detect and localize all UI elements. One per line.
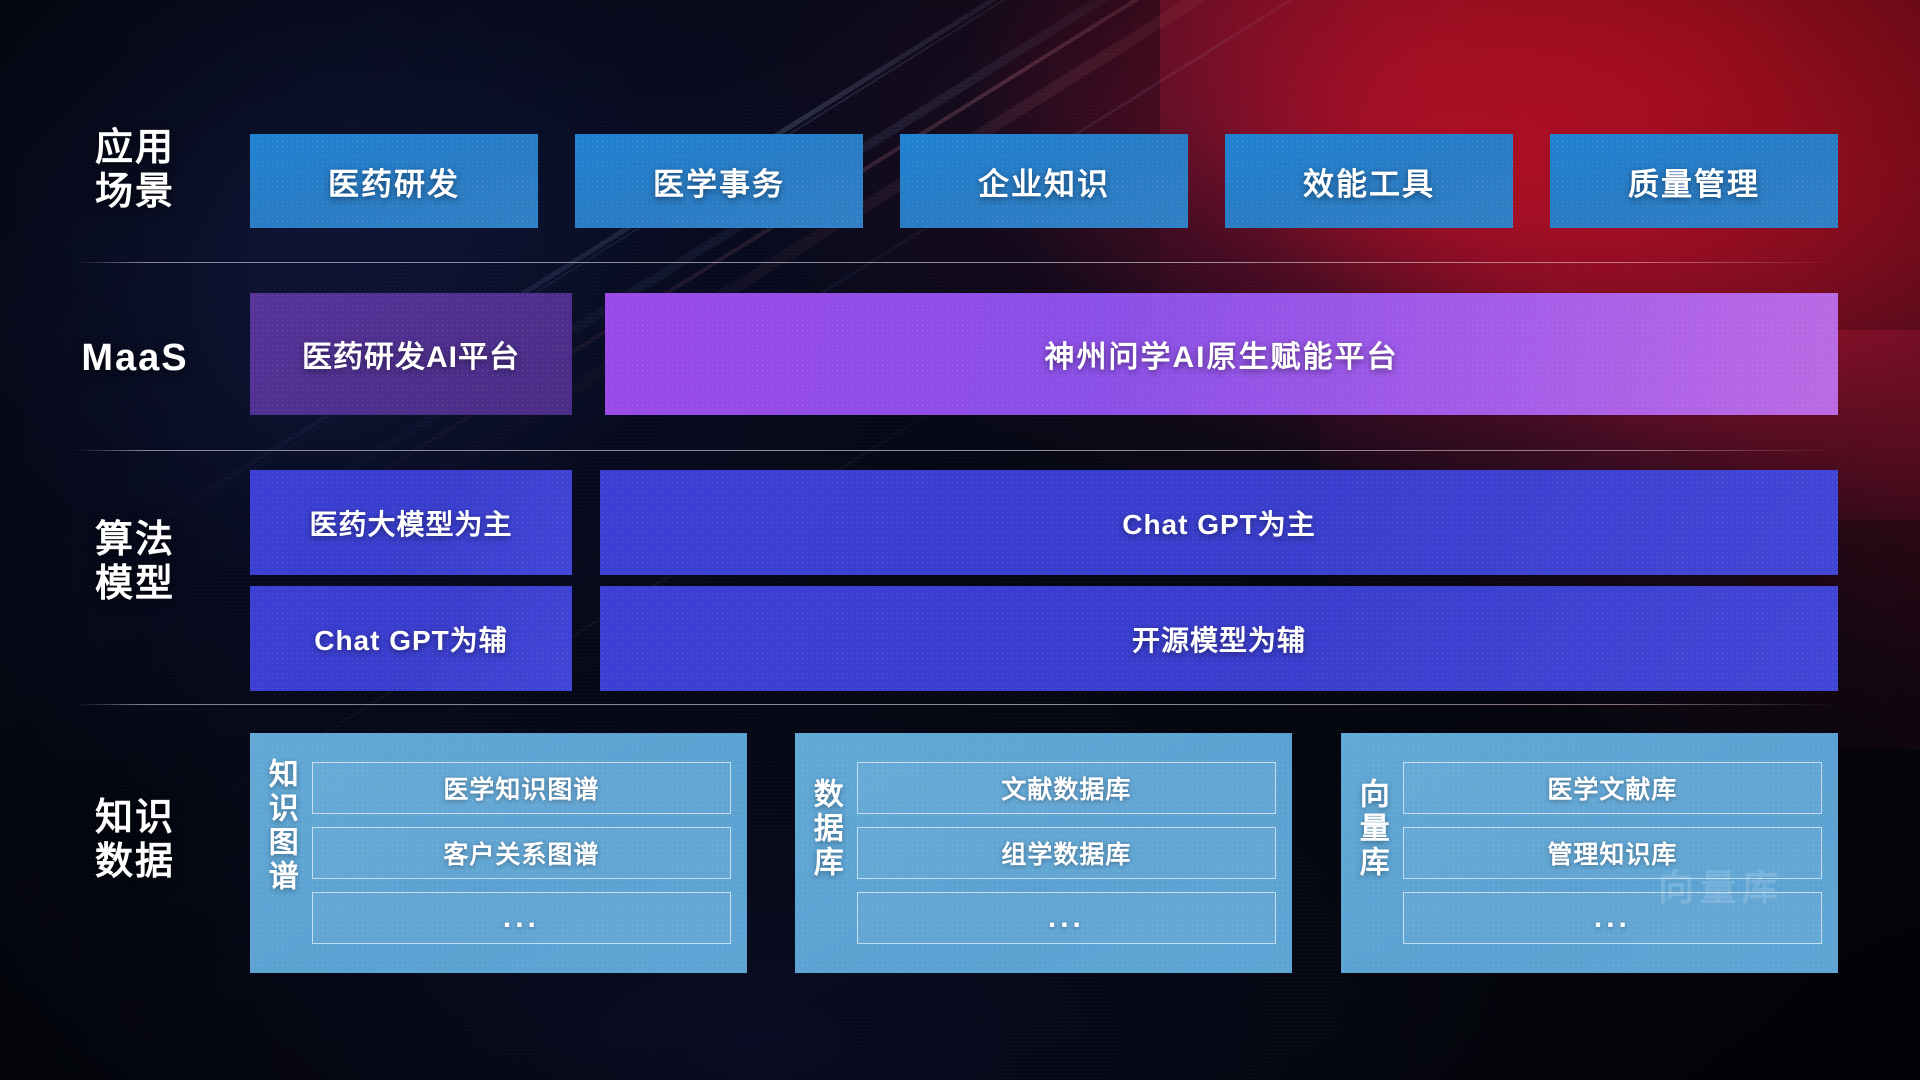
knowledge-group-title: 数据库 [809,778,841,928]
app-box-label: 企业知识 [978,159,1110,204]
row-label-algorithm: 算法 模型 [60,518,210,606]
knowledge-item[interactable]: 医学知识图谱 [312,762,731,814]
knowledge-item-label: 文献数据库 [1001,770,1131,806]
knowledge-item[interactable]: 医学文献库 [1403,762,1822,814]
app-box-label: 医药研发 [328,159,460,204]
algo-box-label: Chat GPT为辅 [314,619,508,659]
algo-box-medical-model-primary[interactable]: 医药大模型为主 [250,470,572,575]
knowledge-item-more[interactable]: ... [1403,892,1822,944]
maas-box-medical-ai-platform[interactable]: 医药研发AI平台 [250,293,572,415]
algo-box-label: 开源模型为辅 [1132,619,1306,659]
knowledge-group-title: 向量库 [1355,778,1387,928]
algo-box-chatgpt-primary[interactable]: Chat GPT为主 [600,470,1838,575]
knowledge-item-label: ... [1048,901,1085,935]
algo-box-chatgpt-secondary[interactable]: Chat GPT为辅 [250,586,572,691]
knowledge-group-database[interactable]: 数据库 文献数据库 组学数据库 ... [795,733,1292,973]
maas-box-shenzhou-platform[interactable]: 神州问学AI原生赋能平台 [605,293,1838,415]
row-label-application: 应用 场景 [60,126,210,214]
app-box-2[interactable]: 企业知识 [900,134,1188,228]
knowledge-item-label: ... [503,901,540,935]
knowledge-item-label: 管理知识库 [1547,835,1677,871]
divider-1 [75,262,1837,263]
knowledge-group-title: 知识图谱 [264,758,296,948]
knowledge-item-more[interactable]: ... [857,892,1276,944]
knowledge-item-more[interactable]: ... [312,892,731,944]
knowledge-item-label: 客户关系图谱 [443,835,599,871]
row-label-maas: MaaS [60,336,210,380]
knowledge-item-label: 医学知识图谱 [443,770,599,806]
maas-box-label: 神州问学AI原生赋能平台 [1045,332,1399,376]
knowledge-item-label: 医学文献库 [1547,770,1677,806]
app-box-4[interactable]: 质量管理 [1550,134,1838,228]
app-box-label: 效能工具 [1303,159,1435,204]
app-box-1[interactable]: 医学事务 [575,134,863,228]
app-box-0[interactable]: 医药研发 [250,134,538,228]
knowledge-group-graph[interactable]: 知识图谱 医学知识图谱 客户关系图谱 ... [250,733,747,973]
knowledge-item[interactable]: 客户关系图谱 [312,827,731,879]
knowledge-item[interactable]: 文献数据库 [857,762,1276,814]
knowledge-item-label: 组学数据库 [1001,835,1131,871]
divider-3 [75,704,1837,705]
app-box-label: 质量管理 [1628,159,1760,204]
architecture-diagram: 应用 场景 医药研发 医学事务 企业知识 效能工具 质量管理 MaaS 医药研发… [0,0,1920,1080]
app-box-3[interactable]: 效能工具 [1225,134,1513,228]
app-box-label: 医学事务 [653,159,785,204]
knowledge-item-list: 医学知识图谱 客户关系图谱 ... [312,762,731,944]
knowledge-item[interactable]: 组学数据库 [857,827,1276,879]
row-label-knowledge: 知识 数据 [60,796,210,884]
knowledge-item-label: ... [1594,901,1631,935]
knowledge-item[interactable]: 管理知识库 [1403,827,1822,879]
algo-box-opensource-secondary[interactable]: 开源模型为辅 [600,586,1838,691]
knowledge-item-list: 文献数据库 组学数据库 ... [857,762,1276,944]
knowledge-item-list: 医学文献库 管理知识库 ... [1403,762,1822,944]
algo-box-label: Chat GPT为主 [1122,503,1316,543]
knowledge-group-vector[interactable]: 向量库 向量库 医学文献库 管理知识库 ... [1341,733,1838,973]
algo-box-label: 医药大模型为主 [309,503,512,543]
maas-box-label: 医药研发AI平台 [302,332,520,376]
divider-2 [75,450,1837,451]
